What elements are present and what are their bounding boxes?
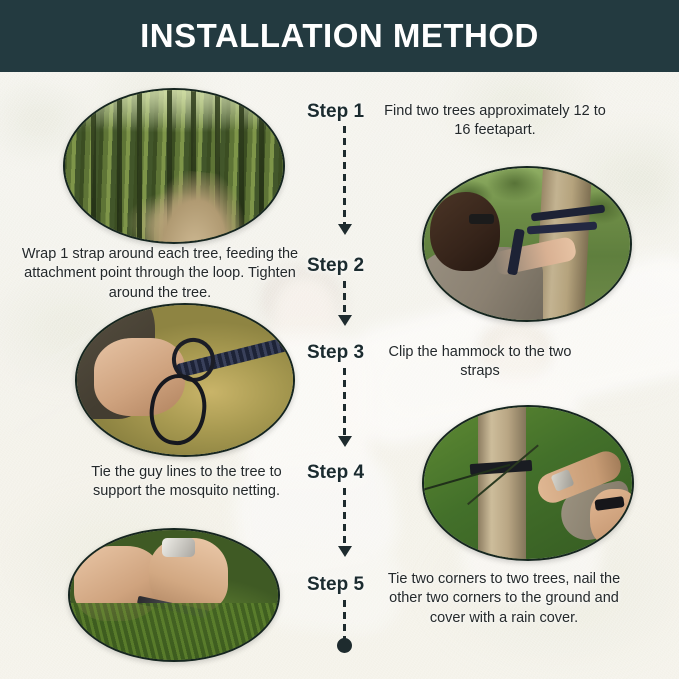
step-label-3: Step 3	[307, 342, 364, 364]
tree-trunk	[137, 90, 142, 242]
forest-canopy	[65, 90, 283, 158]
tree-trunk	[117, 90, 122, 242]
strap-around-tree-image	[424, 168, 630, 320]
installation-method-infographic: INSTALLATION METHOD	[0, 0, 679, 679]
tree-trunk	[478, 405, 526, 561]
guy-line-tree-image	[424, 407, 632, 559]
step-photo-guy-line-tree	[422, 405, 634, 561]
forest-trail	[144, 167, 252, 244]
step-photo-ground-stake	[68, 528, 280, 662]
arrow-down-icon	[338, 436, 352, 447]
step-label-2: Step 2	[307, 255, 364, 277]
step-connector-line	[343, 368, 346, 436]
person-head	[430, 192, 500, 271]
step-description-5: Tie two corners to two trees, nail the o…	[380, 570, 628, 628]
step-label-1: Step 1	[307, 101, 364, 123]
step-description-2: Wrap 1 strap around each tree, feeding t…	[20, 245, 300, 303]
step-connector-line	[343, 488, 346, 546]
arrow-down-icon	[338, 224, 352, 235]
tree-trunk	[91, 90, 96, 242]
step-label-5: Step 5	[307, 574, 364, 596]
step-photo-carabiner-clip	[75, 303, 295, 457]
sunglasses	[469, 214, 494, 225]
step-photo-strap-around-tree	[422, 166, 632, 322]
wristwatch	[162, 538, 195, 558]
step-connector-line	[343, 281, 346, 315]
step-description-3: Clip the hammock to the two straps	[380, 343, 580, 382]
header-banner: INSTALLATION METHOD	[0, 0, 679, 72]
arrow-down-icon	[338, 315, 352, 326]
step-connector-line	[343, 600, 346, 640]
carabiner-clip-image	[77, 305, 293, 455]
step-description-1: Find two trees approximately 12 to 16 fe…	[380, 102, 610, 141]
forest-path-image	[65, 90, 283, 242]
step-photo-forest-path	[63, 88, 285, 244]
step-label-4: Step 4	[307, 462, 364, 484]
ground-stake-image	[70, 530, 278, 660]
tree-trunk	[259, 90, 264, 242]
arrow-down-icon	[338, 546, 352, 557]
page-title: INSTALLATION METHOD	[140, 17, 539, 55]
step-connector-line	[343, 126, 346, 224]
timeline-end-dot	[337, 638, 352, 653]
step-description-4: Tie the guy lines to the tree to support…	[74, 463, 299, 502]
grass-ground	[70, 603, 278, 660]
